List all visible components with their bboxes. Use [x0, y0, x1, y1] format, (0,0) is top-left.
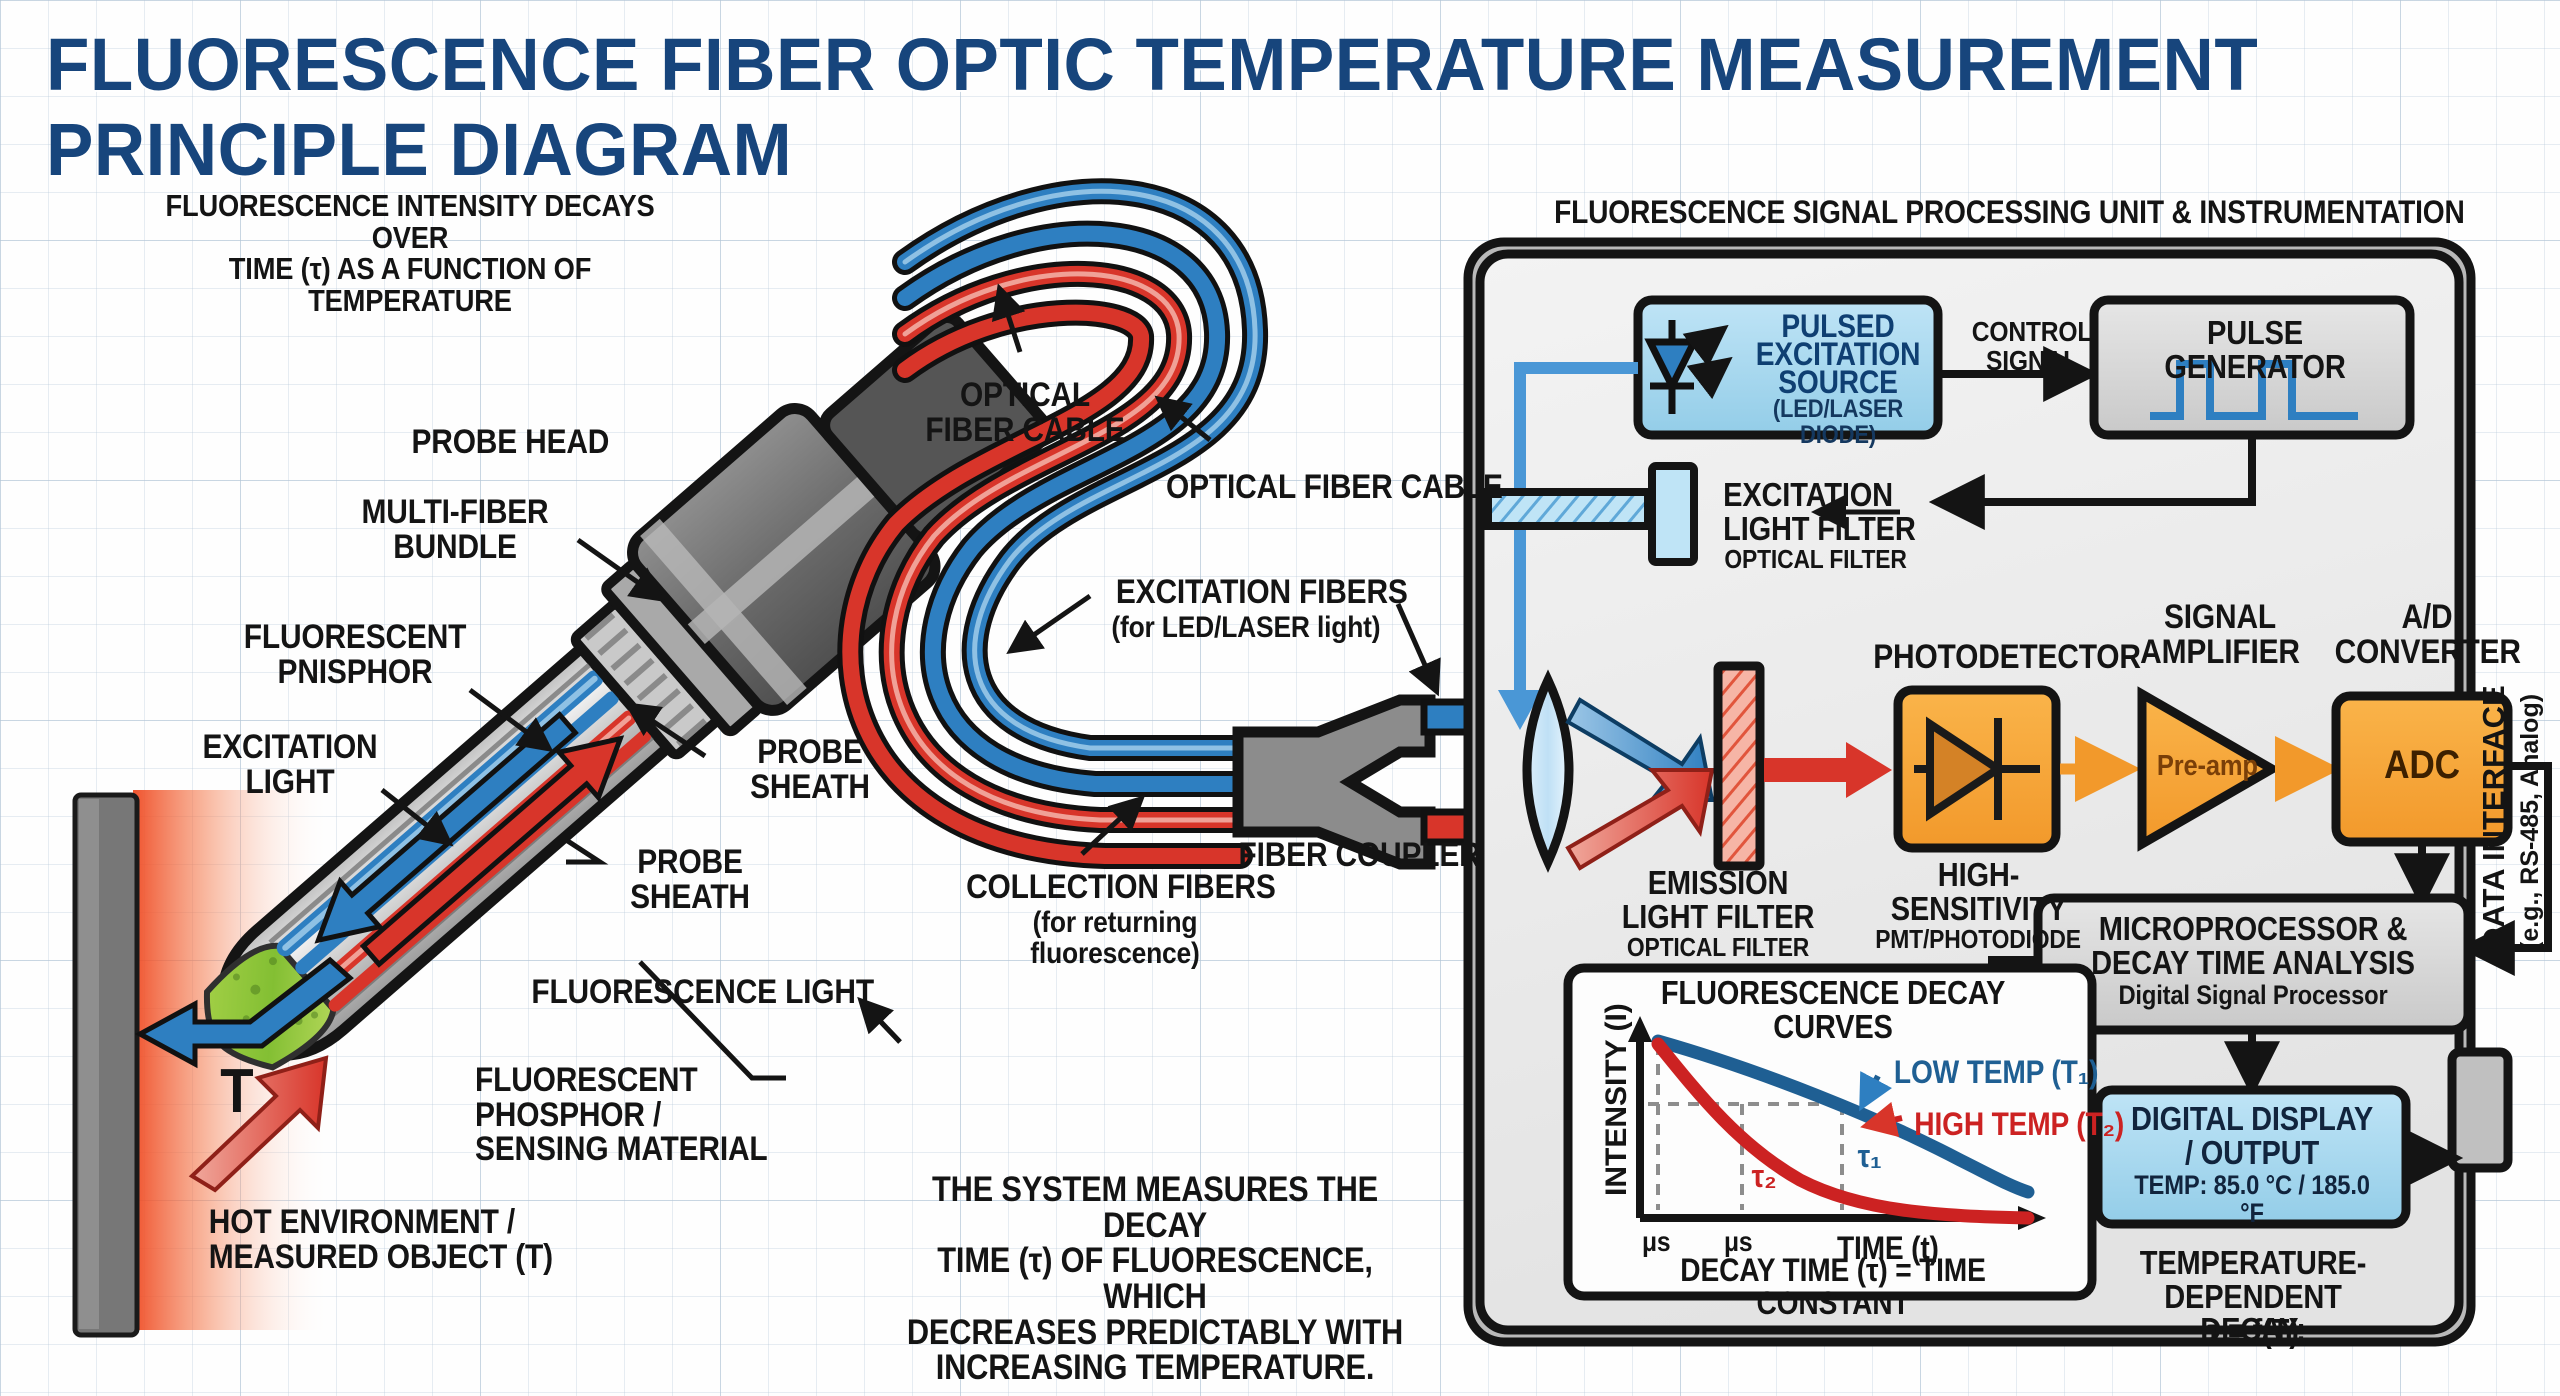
chart-ylabel-text: INTENSITY (I) — [1600, 1003, 1633, 1196]
label-fluorescent-phosphor: FLUORESCENT PHOSPHOR / SENSING MATERIAL — [475, 1063, 871, 1167]
preamp-chip-label: Pre-amp — [2157, 752, 2258, 782]
label-fluorescence-light: FLUORESCENCE LIGHT — [531, 975, 874, 1010]
chart-ylabel: INTENSITY (I) — [1600, 1003, 1634, 1196]
label-excitation-filter-sub: OPTICAL FILTER — [1724, 546, 1906, 573]
label-fluorescent-pnisphor: FLUORESCENT PNISPHOR — [232, 620, 478, 689]
chart-annotation-tau2: τ₂ — [1752, 1160, 1777, 1193]
label-multi-fiber-bundle: MULTI-FIBER BUNDLE — [345, 495, 565, 564]
chart-title: FLUORESCENCE DECAY CURVES — [1635, 976, 2031, 1043]
label-hot-environment: HOT ENVIRONMENT / MEASURED OBJECT (T) — [209, 1205, 587, 1274]
label-probe-sheath-upper: PROBE SHEATH — [731, 735, 889, 804]
system-summary: THE SYSTEM MEASURES THE DECAY TIME (τ) O… — [904, 1172, 1406, 1386]
label-collection-fibers-sub: (for returning fluorescence) — [1014, 908, 1216, 969]
label-emission-light-filter: EMISSION LIGHT FILTER — [1617, 866, 1819, 933]
label-control-signal: CONTROL SIGNAL — [1962, 318, 2103, 375]
adc-chip-label: ADC — [2346, 745, 2497, 786]
label-probe-sheath-lower: PROBE SHEATH — [611, 845, 769, 914]
chart-legend-low-temp: LOW TEMP (T₁) — [1894, 1056, 2098, 1089]
label-decay-formula: τ = f(T) — [2117, 1314, 2390, 1348]
label-collection-fibers: COLLECTION FIBERS — [966, 870, 1276, 905]
label-temperature-symbol: T — [220, 1060, 253, 1123]
data-interface-title: DATA INTERFACE — [2476, 685, 2511, 950]
label-excitation-light: EXCITATION LIGHT — [176, 730, 405, 799]
chart-legend-high-temp: HIGH TEMP (T₂) — [1914, 1108, 2124, 1141]
label-pulse-generator: PULSE GENERATOR — [2127, 316, 2382, 383]
chart-xtick-0: μs — [1642, 1228, 1670, 1257]
label-probe-head: PROBE HEAD — [411, 425, 609, 460]
label-photodetector-sub2: PMT/PHOTODIODE — [1864, 926, 2093, 953]
data-interface-sub-text: (e.g., RS-485, Analog) — [2516, 694, 2544, 950]
label-microprocessor: MICROPROCESSOR & DECAY TIME ANALYSIS — [2067, 912, 2438, 979]
pulsed-source-line3: SOURCE — [1759, 366, 1917, 399]
data-interface-connector — [2452, 1052, 2508, 1168]
label-digital-display: DIGITAL DISPLAY / OUTPUT — [2120, 1102, 2384, 1169]
chart-footer: DECAY TIME (τ) = TIME CONSTANT — [1617, 1254, 2048, 1319]
label-fiber-coupler: FIBER COUPLER — [1239, 838, 1481, 873]
label-excitation-light-filter: EXCITATION LIGHT FILTER — [1723, 478, 1916, 545]
collimating-lens — [1527, 680, 1569, 862]
label-excitation-fibers-sub: (for LED/LASER light) — [1111, 613, 1380, 644]
pulsed-source-sub: (LED/LASER DIODE) — [1741, 397, 1935, 448]
label-data-interface: DATA INTERFACE — [2476, 630, 2512, 950]
intro-note: FLUORESCENCE INTENSITY DECAYS OVER TIME … — [146, 190, 674, 316]
label-photodetector-sub1: HIGH- SENSITIVITY — [1871, 858, 2087, 925]
label-optical-fiber-cable-1: OPTICAL FIBER CABLE — [919, 378, 1130, 447]
label-photodetector: PHOTODETECTOR — [1873, 640, 2141, 675]
label-emission-filter-sub: OPTICAL FILTER — [1621, 934, 1815, 961]
photodetector-box[interactable] — [1898, 690, 2056, 848]
emission-light-filter[interactable] — [1718, 666, 1760, 866]
label-microprocessor-sub: Digital Signal Processor — [2085, 982, 2421, 1010]
chart-annotation-tau1: τ₁ — [1858, 1140, 1882, 1173]
label-data-interface-sub: (e.g., RS-485, Analog) — [2516, 630, 2545, 950]
label-signal-amplifier: SIGNAL AMPLIFIER — [2123, 600, 2317, 669]
instrument-panel-header: FLUORESCENCE SIGNAL PROCESSING UNIT & IN… — [1554, 196, 2465, 229]
label-excitation-fibers: EXCITATION FIBERS — [1116, 575, 1408, 610]
digital-display-reading: TEMP: 85.0 °C / 185.0 °F — [2120, 1172, 2384, 1227]
label-optical-fiber-cable-2: OPTICAL FIBER CABLE — [1166, 470, 1503, 505]
optical-fiber-cable — [850, 191, 1255, 856]
